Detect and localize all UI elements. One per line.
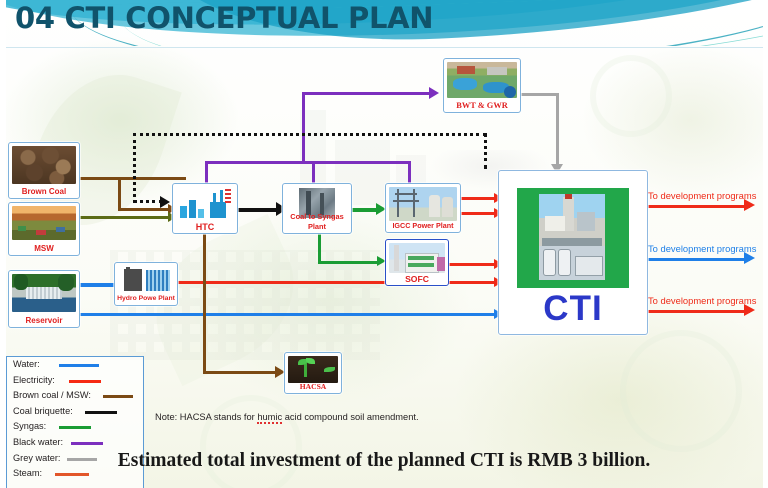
watermark-circle-2 xyxy=(620,330,742,452)
watermark-circle xyxy=(590,55,672,137)
hydro-dam-image xyxy=(118,266,174,293)
node-coal-to-syngas-label: Coal to Syngas Plant xyxy=(283,212,351,232)
factory-chart-image xyxy=(176,187,234,220)
legend-row-brown-coal: Brown coal / MSW: xyxy=(7,388,143,404)
line-igcc-blackwater-riser xyxy=(408,161,411,185)
line-syngas-blackwater-riser xyxy=(312,161,315,185)
arrow-blackwater-to-bwt xyxy=(429,87,439,99)
arrow-briquette-to-htc xyxy=(160,196,170,208)
fuel-cell-building-image xyxy=(389,243,445,273)
legend-row-electricity: Electricity: xyxy=(7,373,143,389)
legend-label-brown-coal: Brown coal / MSW: xyxy=(13,390,91,400)
node-cti-hub[interactable]: CTI xyxy=(498,170,648,335)
power-pylon-image xyxy=(389,187,457,221)
node-hacsa[interactable]: HACSA xyxy=(284,352,342,394)
node-msw[interactable]: MSW xyxy=(8,202,80,256)
footnote-suffix: acid compound soil amendment. xyxy=(282,412,418,422)
output-label-2: To development programs xyxy=(648,243,756,254)
line-htc-to-hacsa-h xyxy=(203,371,277,374)
node-reservoir-label: Reservoir xyxy=(9,316,79,326)
node-htc[interactable]: HTC xyxy=(172,183,238,234)
legend-label-syngas: Syngas: xyxy=(13,421,46,431)
node-msw-label: MSW xyxy=(9,244,79,254)
slide-canvas: 04 CTI CONCEPTUAL PLAN xyxy=(0,0,768,488)
line-syngas-to-sofc-v xyxy=(318,232,321,264)
watermark-circle-3 xyxy=(200,395,302,488)
header-divider xyxy=(0,47,768,48)
line-htc-to-hacsa-v xyxy=(203,232,206,374)
line-hydro-electricity-to-cti xyxy=(176,281,500,284)
output-label-3: To development programs xyxy=(648,295,756,306)
line-blackwater-to-bwt-h xyxy=(302,92,432,95)
line-output-1 xyxy=(646,205,750,208)
legend-swatch-syngas xyxy=(59,426,91,429)
line-brown-coal-h2 xyxy=(118,208,170,211)
cti-hub-label: CTI xyxy=(499,289,647,329)
line-output-3 xyxy=(646,310,750,313)
node-sofc-label: SOFC xyxy=(386,274,448,284)
legend-label-water: Water: xyxy=(13,359,40,369)
line-blackwater-bus xyxy=(205,161,411,164)
dam-reservoir-image xyxy=(12,274,76,312)
left-edge xyxy=(0,0,6,488)
line-reservoir-water-to-cti xyxy=(40,313,500,316)
legend-row-coal-briquette: Coal briquette: xyxy=(7,404,143,420)
line-briquette-v-left xyxy=(133,133,136,203)
summary-statement: Estimated total investment of the planne… xyxy=(0,450,768,472)
landfill-image xyxy=(12,206,76,240)
coal-pile-image xyxy=(12,146,76,184)
line-briquette-h2 xyxy=(133,200,163,203)
legend-swatch-coal-briquette xyxy=(85,411,117,414)
cti-green-panel xyxy=(517,188,629,288)
line-greywater-v xyxy=(556,93,559,167)
line-briquette-v-right xyxy=(484,133,487,169)
legend-label-electricity: Electricity: xyxy=(13,375,55,385)
industrial-tanks-image xyxy=(539,246,605,280)
industrial-complex-image xyxy=(539,194,605,247)
line-htc-to-syngas xyxy=(236,208,280,212)
node-hydro[interactable]: Hydro Powe Plant xyxy=(114,262,178,306)
legend-swatch-steam xyxy=(55,473,89,476)
water-treatment-ponds-image xyxy=(447,62,517,98)
footnote-flagged-word: humic xyxy=(257,412,282,424)
line-msw-h xyxy=(78,216,170,219)
legend-label-coal-briquette: Coal briquette: xyxy=(13,406,73,416)
legend-swatch-black-water xyxy=(71,442,103,445)
line-blackwater-to-bwt-v xyxy=(302,92,305,164)
node-brown-coal-label: Brown Coal xyxy=(9,187,79,197)
node-igcc[interactable]: IGCC Power Plant xyxy=(385,183,461,233)
node-bwt-gwr-label: BWT & GWR xyxy=(444,101,520,111)
line-briquette-h xyxy=(133,133,486,136)
node-reservoir[interactable]: Reservoir xyxy=(8,270,80,328)
line-greywater-h xyxy=(519,93,559,96)
right-edge xyxy=(763,0,768,488)
line-brown-coal-h1 xyxy=(78,177,186,180)
node-coal-to-syngas[interactable]: Coal to Syngas Plant xyxy=(282,183,352,234)
legend-label-black-water: Black water: xyxy=(13,437,63,447)
legend-swatch-brown-coal xyxy=(103,395,133,398)
legend-swatch-electricity xyxy=(69,380,101,383)
line-syngas-to-sofc-h xyxy=(318,261,380,264)
node-brown-coal[interactable]: Brown Coal xyxy=(8,142,80,199)
node-igcc-label: IGCC Power Plant xyxy=(386,221,460,231)
node-sofc[interactable]: SOFC xyxy=(385,239,449,286)
line-brown-coal-v xyxy=(118,177,121,211)
legend-row-black-water: Black water: xyxy=(7,435,143,451)
node-bwt-gwr[interactable]: BWT & GWR xyxy=(443,58,521,113)
soil-sprout-image xyxy=(288,356,338,383)
line-output-2 xyxy=(646,258,750,261)
legend-row-water: Water: xyxy=(7,357,143,373)
output-label-1: To development programs xyxy=(648,190,756,201)
node-htc-label: HTC xyxy=(173,222,237,232)
footnote: Note: HACSA stands for humic acid compou… xyxy=(155,412,419,422)
line-htc-blackwater-riser xyxy=(205,161,208,185)
page-title: 04 CTI CONCEPTUAL PLAN xyxy=(15,1,433,35)
legend-row-syngas: Syngas: xyxy=(7,419,143,435)
node-hacsa-label: HACSA xyxy=(285,382,341,392)
legend-swatch-water xyxy=(59,364,99,367)
node-hydro-label: Hydro Powe Plant xyxy=(115,294,177,304)
footnote-prefix: Note: HACSA stands for xyxy=(155,412,257,422)
